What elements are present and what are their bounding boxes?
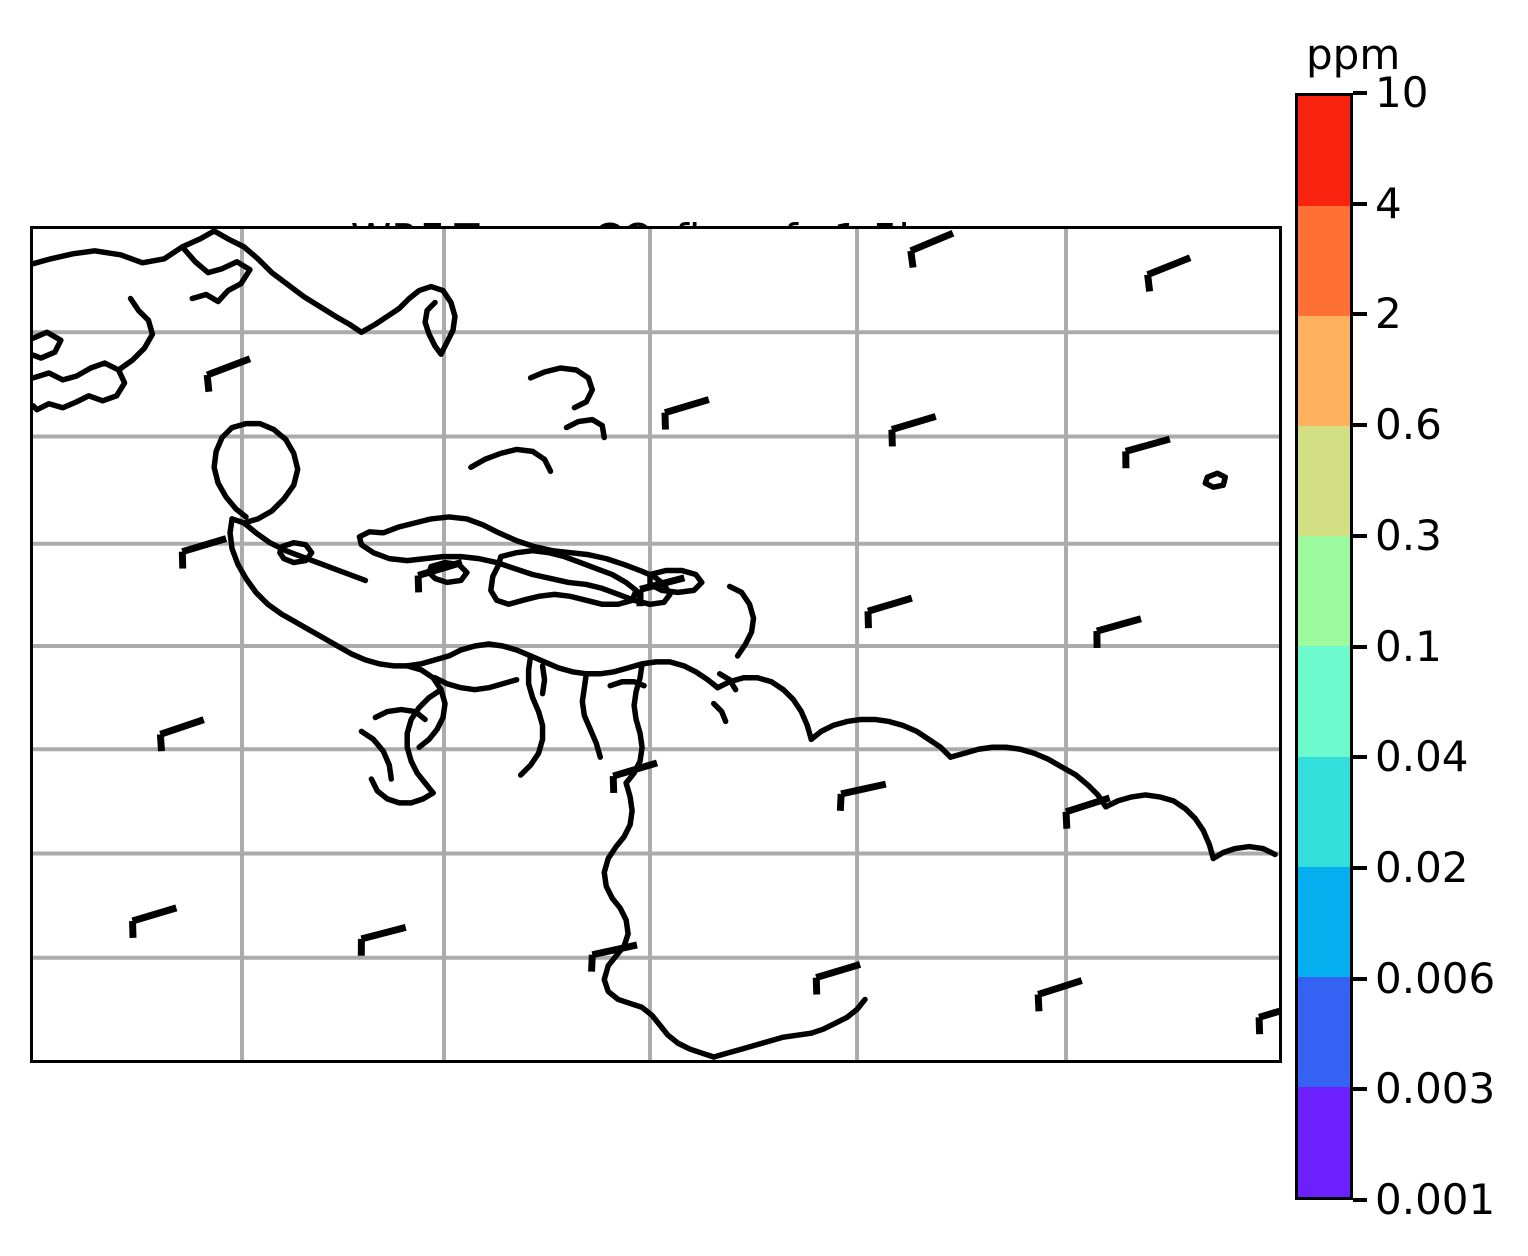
colorbar-band-1: [1298, 206, 1350, 316]
wind-barb-flag-20: [1259, 1017, 1260, 1034]
colorbar-tickmark-8: [1353, 977, 1367, 981]
wind-barb-18: [816, 964, 860, 994]
colorbar-ticklabel-7: 0.02: [1375, 843, 1469, 893]
wind-barb-shaft-17: [592, 945, 637, 955]
wind-barb-shaft-11: [160, 720, 203, 735]
wind-barb-flag-3: [665, 413, 666, 430]
colorbar: [1295, 93, 1353, 1200]
colorbar-band-4: [1298, 536, 1350, 646]
wind-barb-shaft-15: [133, 908, 177, 921]
colorbar-tickmark-2: [1353, 312, 1367, 316]
wind-barb-flag-7: [418, 575, 419, 592]
wind-barb-5: [1126, 439, 1170, 468]
colorbar-band-2: [1298, 316, 1350, 426]
wind-barb-flag-6: [182, 552, 183, 569]
colorbar-ticklabel-2: 2: [1375, 289, 1402, 339]
wind-barb-flag-15: [133, 921, 134, 938]
wind-barb-flag-13: [840, 794, 841, 811]
wind-barb-shaft-16: [361, 927, 405, 938]
wind-barb-flag-11: [160, 734, 161, 751]
wind-barb-flag-2: [207, 375, 209, 392]
colorbar-tickmark-4: [1353, 534, 1367, 538]
wind-barb-flag-19: [1038, 994, 1039, 1011]
wind-barbs: [133, 233, 1279, 1034]
colorbar-ticklabel-6: 0.04: [1375, 732, 1469, 782]
colorbar-ticklabel-5: 0.1: [1375, 622, 1442, 672]
map-panel: [30, 226, 1282, 1063]
colorbar-ticklabel-3: 0.6: [1375, 400, 1442, 450]
colorbar-ticks: 10420.60.30.10.040.020.0060.0030.001: [1353, 93, 1528, 1200]
colorbar-tickmark-0: [1353, 91, 1367, 95]
wind-barb-flag-12: [613, 776, 614, 793]
colorbar-ticklabel-0: 10: [1375, 68, 1428, 118]
wind-barb-1: [1148, 258, 1191, 292]
wind-barb-flag-1: [1148, 275, 1150, 292]
colorbar-ticklabel-1: 4: [1375, 179, 1402, 229]
colorbar-band-7: [1298, 867, 1350, 977]
colorbar-ticklabel-4: 0.3: [1375, 511, 1442, 561]
wind-barb-shaft-20: [1259, 1004, 1279, 1017]
wind-barb-flag-18: [816, 978, 817, 995]
wind-barb-19: [1038, 981, 1082, 1012]
map-canvas: [33, 229, 1279, 1060]
wind-barb-shaft-4: [892, 416, 936, 429]
wind-barb-flag-4: [892, 430, 893, 447]
wind-barb-0: [911, 233, 953, 267]
wind-barb-flag-17: [592, 955, 593, 972]
colorbar-band-6: [1298, 757, 1350, 867]
figure-root: WRF-Tracer CO_fire_sfc 1.5km Init 2024-0…: [0, 0, 1528, 1256]
wind-barb-13: [840, 784, 885, 811]
wind-barb-shaft-1: [1148, 258, 1191, 275]
colorbar-band-5: [1298, 646, 1350, 756]
wind-barb-15: [133, 908, 177, 938]
wind-barb-9: [868, 598, 912, 628]
colorbar-band-3: [1298, 426, 1350, 536]
colorbar-tickmark-1: [1353, 202, 1367, 206]
wind-barb-shaft-13: [841, 784, 886, 794]
colorbar-tickmark-5: [1353, 645, 1367, 649]
wind-barb-shaft-18: [816, 964, 860, 977]
colorbar-band-8: [1298, 977, 1350, 1087]
wind-barb-shaft-5: [1126, 439, 1170, 451]
wind-barb-shaft-19: [1038, 981, 1082, 995]
coastlines: [33, 231, 1275, 1057]
wind-barb-shaft-10: [1097, 619, 1141, 631]
wind-barb-shaft-3: [665, 400, 709, 413]
colorbar-tickmark-6: [1353, 755, 1367, 759]
wind-barb-3: [665, 400, 709, 430]
colorbar-band-0: [1298, 96, 1350, 206]
wind-barb-10: [1097, 619, 1141, 648]
wind-barb-4: [892, 416, 936, 446]
wind-barb-flag-14: [1066, 812, 1067, 829]
wind-barb-20: [1259, 1004, 1279, 1034]
colorbar-band-9: [1298, 1087, 1350, 1197]
wind-barb-14: [1066, 798, 1110, 829]
wind-barb-11: [160, 720, 203, 752]
wind-barb-flag-9: [868, 611, 869, 628]
map-gridlines: [33, 229, 1279, 1060]
wind-barb-shaft-9: [868, 598, 912, 611]
colorbar-ticklabel-9: 0.003: [1375, 1064, 1495, 1114]
wind-barb-shaft-0: [911, 233, 953, 251]
colorbar-tickmark-9: [1353, 1087, 1367, 1091]
wind-barb-16: [361, 927, 405, 955]
colorbar-ticklabel-8: 0.006: [1375, 954, 1495, 1004]
colorbar-tickmark-7: [1353, 866, 1367, 870]
wind-barb-flag-0: [911, 251, 913, 268]
colorbar-tickmark-10: [1353, 1198, 1367, 1202]
colorbar-tickmark-3: [1353, 423, 1367, 427]
colorbar-ticklabel-10: 0.001: [1375, 1175, 1495, 1225]
